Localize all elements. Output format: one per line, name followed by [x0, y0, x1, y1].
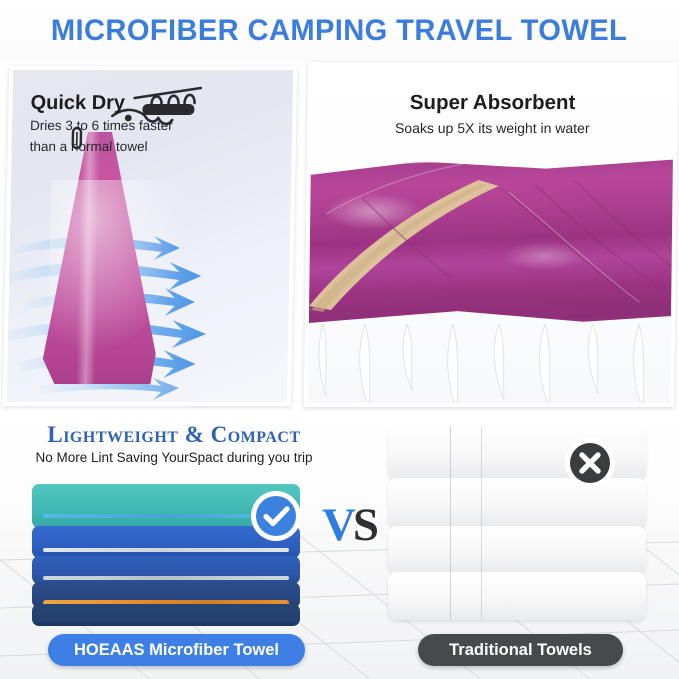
versus-s: S	[353, 502, 376, 549]
close-icon	[563, 436, 617, 490]
panel-super-absorbent: Super Absorbent Soaks up 5X its weight i…	[304, 62, 678, 407]
water-drips-icon	[304, 324, 678, 407]
lightweight-heading: Lightweight & Compact	[14, 422, 334, 448]
lightweight-caption: Lightweight & Compact No More Lint Savin…	[14, 422, 334, 465]
versus-v: V	[322, 502, 353, 549]
quick-dry-subtitle-line2: than a normal towel	[30, 138, 173, 156]
traditional-towels-label: Traditional Towels	[418, 634, 623, 666]
quick-dry-caption: Quick Dry Dries 3 to 6 times faster than…	[30, 92, 174, 155]
towel-folds-and-stripe	[304, 158, 678, 336]
hoeaas-towel-label: HOEAAS Microfiber Towel	[48, 634, 305, 666]
super-absorbent-heading: Super Absorbent	[311, 92, 673, 115]
quick-dry-heading: Quick Dry	[30, 92, 173, 114]
towel-trim-mid-blue	[43, 576, 290, 580]
title-bar: MICROFIBER CAMPING TRAVEL TOWEL	[0, 0, 679, 62]
lightweight-subtitle: No More Lint Saving YourSpact during you…	[14, 450, 334, 465]
feature-panels: Quick Dry Dries 3 to 6 times faster than…	[0, 62, 679, 412]
page-title: MICROFIBER CAMPING TRAVEL TOWEL	[51, 14, 627, 48]
quick-dry-subtitle-line1: Dries 3 to 6 times faster	[30, 117, 173, 135]
super-absorbent-caption: Super Absorbent Soaks up 5X its weight i…	[311, 92, 674, 137]
panel-quick-dry: Quick Dry Dries 3 to 6 times faster than…	[3, 66, 298, 406]
white-towel-3	[388, 526, 646, 574]
white-towel-4	[388, 572, 646, 620]
super-absorbent-subtitle: Soaks up 5X its weight in water	[311, 119, 673, 137]
towel-layer-dark-navy	[32, 604, 300, 626]
towel-trim-royal-blue	[43, 548, 290, 552]
check-icon	[249, 489, 303, 543]
infographic-root: MICROFIBER CAMPING TRAVEL TOWEL	[0, 0, 679, 679]
versus-badge: VS	[317, 494, 381, 556]
